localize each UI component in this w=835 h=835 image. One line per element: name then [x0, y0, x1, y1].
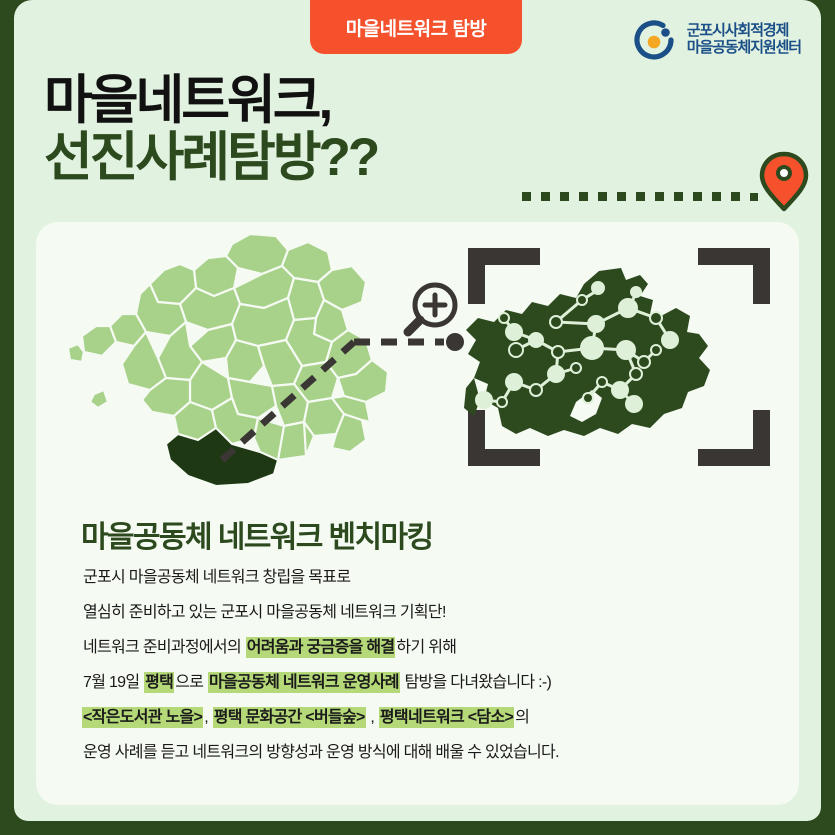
content-card: 마을공동체 네트워크 벤치마킹 군포시 마을공동체 네트워크 창립을 목표로열심… — [36, 222, 799, 805]
dotted-route-line — [522, 150, 812, 212]
body-text-line-6: 운영 사례를 듣고 네트워크의 방향성과 운영 방식에 대해 배울 수 있었습니… — [82, 745, 772, 761]
plain-text: 하기 위해 — [395, 637, 457, 658]
category-badge: 마을네트워크 탐방 — [310, 0, 522, 54]
highlighted-text: 어려움과 궁금증을 해결 — [246, 637, 396, 658]
inner-panel: 마을네트워크 탐방 군포시사회적경제 마을공동체지원센터 마을네트워크, 선진사… — [14, 0, 821, 821]
circle-network-logo-icon — [630, 16, 678, 64]
map-pin-icon — [762, 154, 806, 209]
plain-text: 으로 — [174, 672, 208, 693]
magnifier-plus-icon — [408, 285, 455, 332]
body-text-line-4: 7월 19일 평택으로 마을공동체 네트워크 운영사례 탐방을 다녀왔습니다 :… — [82, 675, 772, 691]
plain-text: 열심히 준비하고 있는 군포시 마을공동체 네트워크 기획단! — [82, 602, 447, 623]
highlighted-text: 평택 문화공간 <버들숲> — [213, 707, 366, 728]
highlighted-text: 평택 — [144, 672, 174, 693]
pyeongtaek-city-map — [464, 268, 710, 436]
promo-card: 마을네트워크 탐방 군포시사회적경제 마을공동체지원센터 마을네트워크, 선진사… — [0, 0, 835, 835]
plain-text: , — [203, 707, 213, 728]
organization-logo-line1: 군포시사회적경제 — [687, 23, 801, 40]
organization-logo-text: 군포시사회적경제 마을공동체지원센터 — [687, 23, 801, 57]
body-text-line-3: 네트워크 준비과정에서의 어려움과 궁금증을 해결하기 위해 — [82, 640, 772, 656]
category-badge-label: 마을네트워크 탐방 — [346, 14, 487, 41]
plain-text: 군포시 마을공동체 네트워크 창립을 목표로 — [82, 567, 351, 588]
plain-text: , — [366, 707, 379, 728]
section-heading: 마을공동체 네트워크 벤치마킹 — [81, 512, 432, 556]
gyeonggi-province-map — [68, 234, 388, 486]
organization-logo-line2: 마을공동체지원센터 — [687, 40, 801, 57]
plain-text: 7월 19일 — [82, 672, 144, 693]
illustration-area — [36, 222, 799, 492]
plain-text: 운영 사례를 듣고 네트워크의 방향성과 운영 방식에 대해 배울 수 있었습니… — [82, 742, 560, 763]
highlighted-text: 평택네트워크 <담소> — [379, 707, 514, 728]
page-title: 마을네트워크, 선진사례탐방?? — [44, 72, 377, 186]
organization-logo: 군포시사회적경제 마을공동체지원센터 — [630, 16, 801, 64]
page-title-line2: 선진사례탐방?? — [44, 129, 377, 186]
body-text-line-2: 열심히 준비하고 있는 군포시 마을공동체 네트워크 기획단! — [82, 605, 772, 621]
highlighted-text: <작은도서관 노을> — [82, 707, 203, 728]
body-text-line-1: 군포시 마을공동체 네트워크 창립을 목표로 — [82, 570, 772, 586]
body-text: 군포시 마을공동체 네트워크 창립을 목표로열심히 준비하고 있는 군포시 마을… — [82, 570, 772, 780]
plain-text: 의 — [514, 707, 530, 728]
highlighted-text: 마을공동체 네트워크 운영사례 — [208, 672, 400, 693]
page-title-line1: 마을네트워크, — [44, 72, 377, 129]
body-text-line-5: <작은도서관 노을>, 평택 문화공간 <버들숲> , 평택네트워크 <담소>의 — [82, 710, 772, 726]
plain-text: 네트워크 준비과정에서의 — [82, 637, 246, 658]
plain-text: 탐방을 다녀왔습니다 :-) — [400, 672, 552, 693]
